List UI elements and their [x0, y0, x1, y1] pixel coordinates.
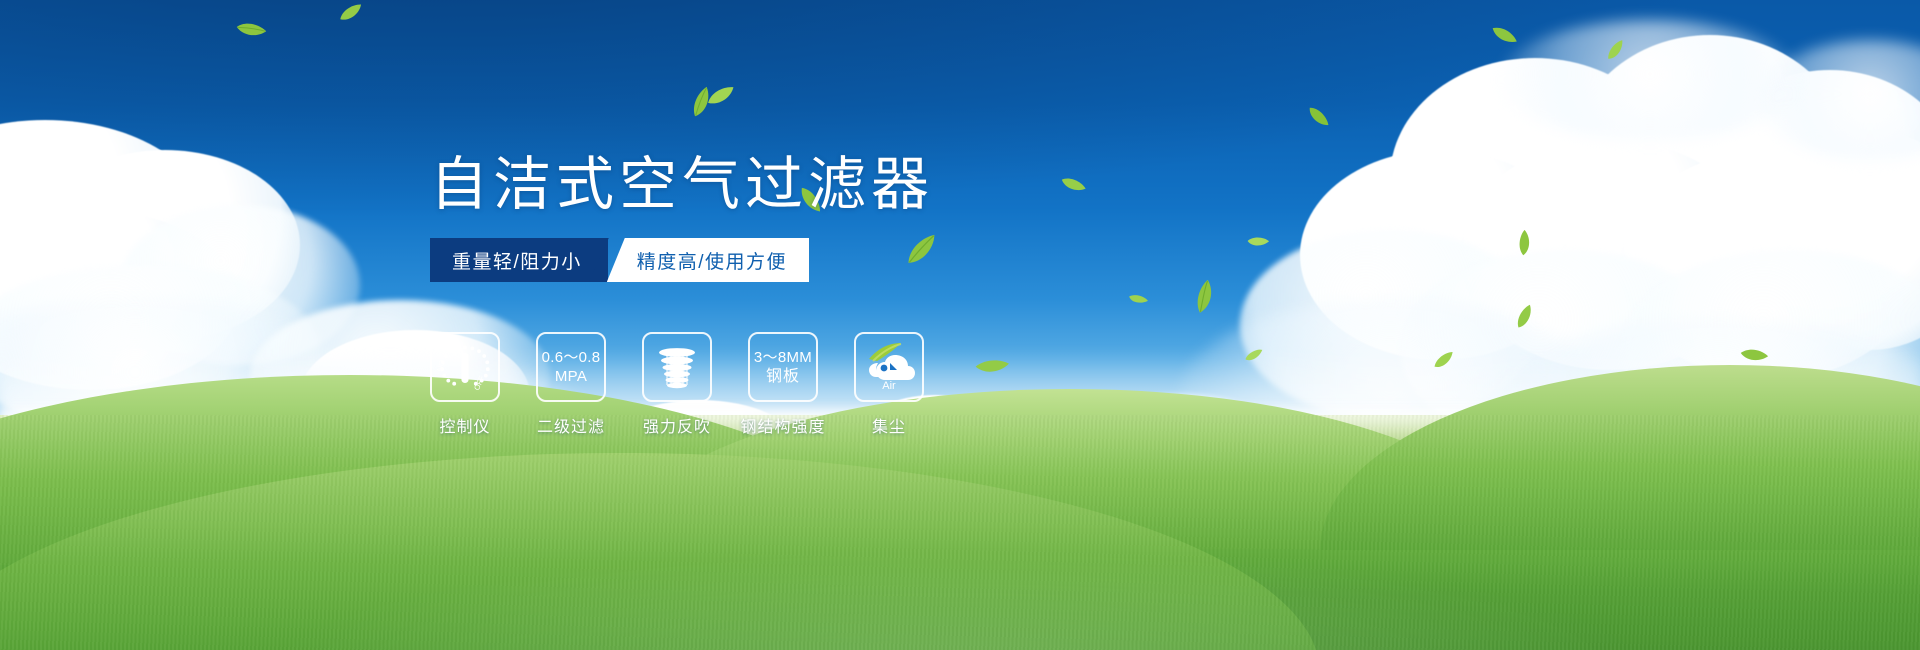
tag-label: 重量轻/阻力小 — [452, 247, 582, 274]
filter-cartridge-icon — [651, 341, 703, 393]
feature-item-dust-collection[interactable]: Air 集尘 — [854, 332, 924, 437]
feature-icon-box: 0.6～0.8 MPA — [536, 332, 606, 402]
feature-caption: 控制仪 — [439, 413, 490, 437]
tag-weight-resistance[interactable]: 重量轻/阻力小 — [430, 238, 608, 282]
pressure-range-value: 0.6～0.8 — [542, 348, 601, 367]
air-label: Air — [882, 380, 896, 391]
feature-icon-box: NO OFF — [430, 332, 500, 402]
feature-icon-box — [642, 332, 712, 402]
steel-material-label: 钢板 — [766, 367, 800, 386]
feature-item-pressure[interactable]: 0.6～0.8 MPA 二级过滤 — [536, 332, 606, 437]
feature-icon-box: 3～8MM 钢板 — [748, 332, 818, 402]
tag-precision-convenience[interactable]: 精度高/使用方便 — [607, 238, 809, 282]
feature-icon-box: Air — [854, 332, 924, 402]
tag-label: 精度高/使用方便 — [637, 247, 787, 274]
feature-caption: 钢结构强度 — [741, 413, 826, 437]
feature-caption: 二级过滤 — [537, 413, 605, 437]
feature-item-steel[interactable]: 3～8MM 钢板 钢结构强度 — [748, 332, 818, 437]
product-banner: 自洁式空气过滤器 重量轻/阻力小 精度高/使用方便 — [0, 0, 1920, 650]
feature-list: NO OFF 控制仪 0.6～0.8 MPA 二级过滤 — [430, 332, 924, 437]
gauge-dial-icon: NO OFF — [437, 340, 493, 394]
feature-caption: 强力反吹 — [643, 413, 711, 437]
feature-tag-bar: 重量轻/阻力小 精度高/使用方便 — [430, 238, 809, 282]
feature-item-controller[interactable]: NO OFF 控制仪 — [430, 332, 500, 437]
feature-item-backblow[interactable]: 强力反吹 — [642, 332, 712, 437]
air-cloud-icon: Air — [861, 343, 917, 391]
feature-caption: 集尘 — [872, 413, 906, 437]
steel-thickness-value: 3～8MM — [754, 348, 812, 367]
svg-text:NO: NO — [437, 359, 447, 373]
page-title: 自洁式空气过滤器 — [430, 148, 934, 220]
banner-content: 自洁式空气过滤器 重量轻/阻力小 精度高/使用方便 — [0, 0, 1920, 650]
pressure-unit-value: MPA — [555, 367, 587, 386]
